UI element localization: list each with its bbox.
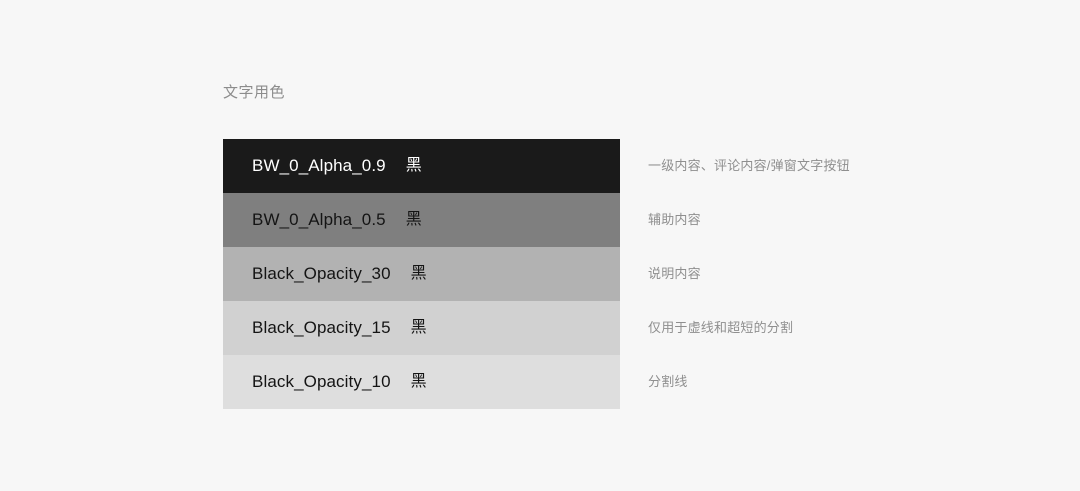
- swatch-row[interactable]: Black_Opacity_15 黑: [223, 301, 620, 355]
- usage-description: 说明内容: [648, 247, 988, 301]
- swatch-table: BW_0_Alpha_0.9 黑 BW_0_Alpha_0.5 黑 Black_…: [223, 139, 620, 409]
- usage-description: 仅用于虚线和超短的分割: [648, 301, 988, 355]
- swatch-token-name: Black_Opacity_15: [252, 317, 391, 339]
- swatch-token-name: Black_Opacity_30: [252, 263, 391, 285]
- swatch-color-label: 黑: [406, 155, 422, 177]
- usage-description: 辅助内容: [648, 193, 988, 247]
- swatch-row[interactable]: Black_Opacity_30 黑: [223, 247, 620, 301]
- swatch-color-label: 黑: [406, 209, 422, 231]
- swatch-row[interactable]: Black_Opacity_10 黑: [223, 355, 620, 409]
- swatch-row[interactable]: BW_0_Alpha_0.5 黑: [223, 193, 620, 247]
- swatch-row[interactable]: BW_0_Alpha_0.9 黑: [223, 139, 620, 193]
- swatch-token-name: Black_Opacity_10: [252, 371, 391, 393]
- page-title: 文字用色: [223, 83, 285, 103]
- swatch-color-label: 黑: [411, 263, 427, 285]
- usage-description-list: 一级内容、评论内容/弹窗文字按钮 辅助内容 说明内容 仅用于虚线和超短的分割 分…: [648, 139, 988, 409]
- swatch-color-label: 黑: [411, 371, 427, 393]
- color-spec-page: 文字用色 BW_0_Alpha_0.9 黑 BW_0_Alpha_0.5 黑 B…: [0, 0, 1080, 491]
- swatch-token-name: BW_0_Alpha_0.5: [252, 209, 386, 231]
- swatch-color-label: 黑: [411, 317, 427, 339]
- usage-description: 一级内容、评论内容/弹窗文字按钮: [648, 139, 988, 193]
- swatch-token-name: BW_0_Alpha_0.9: [252, 155, 386, 177]
- usage-description: 分割线: [648, 355, 988, 409]
